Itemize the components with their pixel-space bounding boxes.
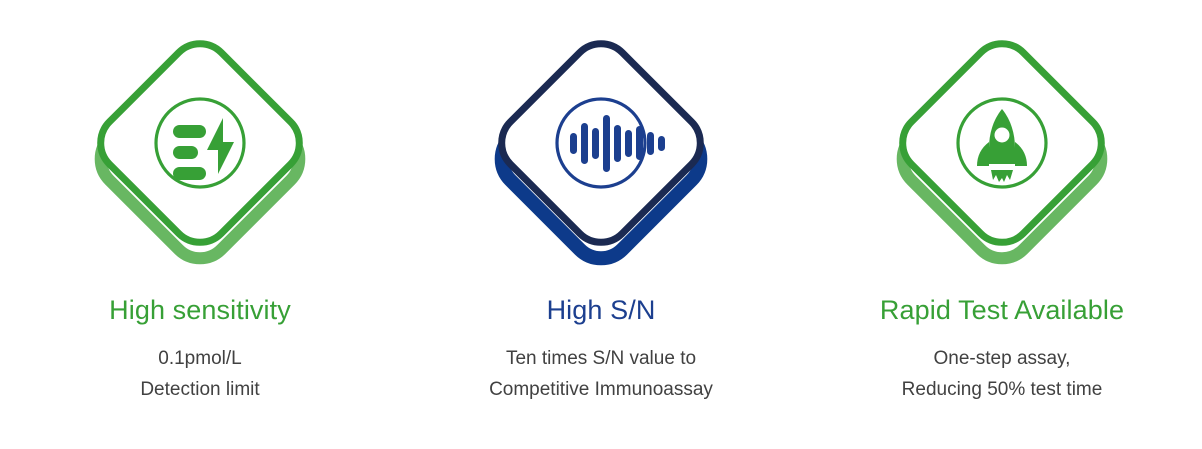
feature-title-high-sn: High S/N: [547, 294, 656, 326]
feature-description-high-sensitivity: 0.1pmol/L Detection limit: [140, 343, 259, 405]
feature-card-high-sn[interactable]: High S/N Ten times S/N value to Competit…: [401, 0, 801, 449]
feature-desc-line-1: 0.1pmol/L: [140, 343, 259, 374]
feature-badge-high-sensitivity: [75, 22, 325, 282]
feature-description-rapid-test: One-step assay, Reducing 50% test time: [902, 343, 1103, 405]
feature-badge-high-sn: [476, 22, 726, 282]
feature-title-high-sensitivity: High sensitivity: [109, 294, 291, 326]
feature-desc-line-2: Competitive Immunoassay: [489, 374, 713, 405]
feature-card-rapid-test-available[interactable]: Rapid Test Available One-step assay, Red…: [802, 0, 1202, 449]
feature-desc-line-1: One-step assay,: [902, 343, 1103, 374]
feature-desc-line-1: Ten times S/N value to: [489, 343, 713, 374]
diamond-badge-green: [75, 22, 325, 282]
feature-title-rapid-test-available: Rapid Test Available: [880, 294, 1124, 326]
feature-row: High sensitivity 0.1pmol/L Detection lim…: [0, 0, 1202, 449]
diamond-badge-blue: [476, 22, 726, 282]
feature-desc-line-2: Detection limit: [140, 374, 259, 405]
feature-card-high-sensitivity[interactable]: High sensitivity 0.1pmol/L Detection lim…: [0, 0, 400, 449]
diamond-badge-green: [877, 22, 1127, 282]
feature-desc-line-2: Reducing 50% test time: [902, 374, 1103, 405]
feature-description-high-sn: Ten times S/N value to Competitive Immun…: [489, 343, 713, 405]
feature-badge-rapid-test: [877, 22, 1127, 282]
